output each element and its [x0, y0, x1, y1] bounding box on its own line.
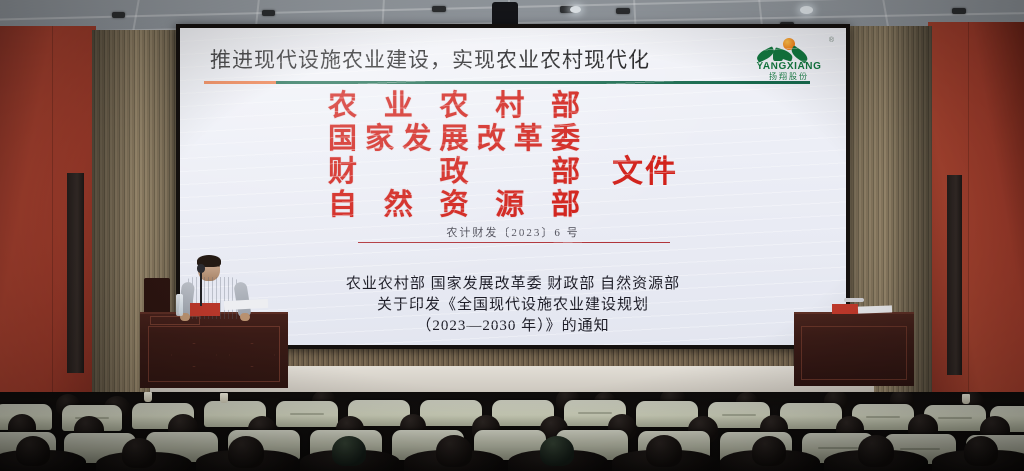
title-divider	[204, 81, 810, 84]
audience-head	[752, 436, 786, 466]
ministry-char: 源	[495, 189, 524, 222]
ministry-char: 财	[328, 156, 357, 189]
ministry-char: 革	[514, 123, 543, 156]
podium-microphone	[200, 268, 202, 306]
water-bottle	[176, 294, 183, 316]
ceiling-light	[570, 6, 581, 13]
document-word: 文件	[612, 146, 678, 191]
ministry-char: 改	[477, 123, 506, 156]
wooden-podium	[140, 312, 288, 388]
slide-title: 推进现代设施农业建设，实现农业农村现代化	[210, 44, 770, 74]
ceiling-light	[952, 8, 966, 14]
document-number: 农计财发〔2023〕6 号	[180, 224, 846, 240]
audience-head	[228, 436, 264, 468]
audience-head	[964, 436, 998, 466]
ministry-char: 然	[384, 189, 413, 222]
audience-head	[540, 436, 574, 466]
projection-screen: 推进现代设施农业建设，实现农业农村现代化 ® YANGXIANG 扬翔股份	[176, 24, 850, 349]
ministry-char: 政	[439, 156, 468, 189]
audience-head	[646, 435, 682, 467]
ministry-char: 委	[551, 123, 580, 156]
podium-panel	[148, 326, 280, 382]
audience-head	[858, 435, 894, 467]
ministry-line: 自 然 资 源 部	[328, 189, 580, 222]
ministry-char: 农	[328, 90, 357, 123]
side-table-papers	[858, 305, 892, 313]
ministry-line: 国 家 发 展 改 革 委	[328, 123, 580, 156]
ministry-char: 国	[328, 123, 357, 156]
ministry-char: 部	[551, 189, 580, 222]
side-table-microphone	[844, 298, 864, 302]
ceiling-light	[800, 6, 813, 14]
ministry-char: 自	[328, 189, 357, 222]
left-doorway	[67, 173, 84, 373]
ministry-heading-block: 农 业 农 村 部 国 家 发 展 改 革 委 财 政	[328, 90, 580, 222]
paper-cup	[220, 393, 228, 403]
ministry-char: 部	[551, 90, 580, 123]
audience-head	[436, 435, 472, 467]
ceiling-light	[262, 10, 275, 16]
ministry-char: 业	[384, 90, 413, 123]
audience-seat	[780, 403, 842, 429]
slide-content: 推进现代设施农业建设，实现农业农村现代化 ® YANGXIANG 扬翔股份	[180, 28, 846, 345]
ministry-char: 村	[495, 90, 524, 123]
ministry-char: 农	[439, 90, 468, 123]
conference-hall-photo: 推进现代设施农业建设，实现农业农村现代化 ® YANGXIANG 扬翔股份	[0, 0, 1024, 471]
ceiling-light	[432, 6, 446, 12]
ceiling-light	[616, 8, 630, 14]
paper-cup	[144, 392, 152, 402]
right-doorway	[947, 175, 962, 375]
logo-chinese-name: 扬翔股份	[746, 72, 832, 82]
podium-chair	[144, 278, 170, 312]
notice-line: 农业农村部 国家发展改革委 财政部 自然资源部	[180, 274, 846, 295]
podium-inlay	[171, 343, 217, 367]
ministry-char: 展	[439, 123, 468, 156]
wooden-side-table	[794, 312, 914, 386]
audience-head	[122, 438, 156, 468]
microphone-head-icon	[197, 264, 205, 273]
side-table-panel	[801, 326, 907, 380]
side-table-red-folder	[832, 304, 858, 314]
ministry-line: 农 业 农 村 部	[328, 90, 580, 123]
audience-head	[16, 436, 50, 466]
ministry-line: 财 政 部	[328, 156, 580, 189]
ministry-char: 部	[551, 156, 580, 189]
presenter-right-hand	[240, 313, 250, 321]
audience-head	[332, 436, 366, 466]
ministry-char: 资	[439, 189, 468, 222]
logo-mark-icon	[746, 38, 832, 60]
paper-cup	[962, 394, 970, 404]
divider-accent-segment	[204, 81, 276, 84]
podium-inlay	[229, 343, 275, 367]
red-folder	[190, 303, 220, 316]
audience-seat	[276, 401, 338, 427]
ministry-char: 家	[365, 123, 394, 156]
ceiling-light	[112, 12, 125, 18]
divider-main-segment	[276, 81, 810, 84]
ministry-char: 发	[402, 123, 431, 156]
yangxiang-logo: ® YANGXIANG 扬翔股份	[746, 38, 832, 84]
audience-area	[0, 392, 1024, 471]
document-rule	[358, 242, 670, 243]
